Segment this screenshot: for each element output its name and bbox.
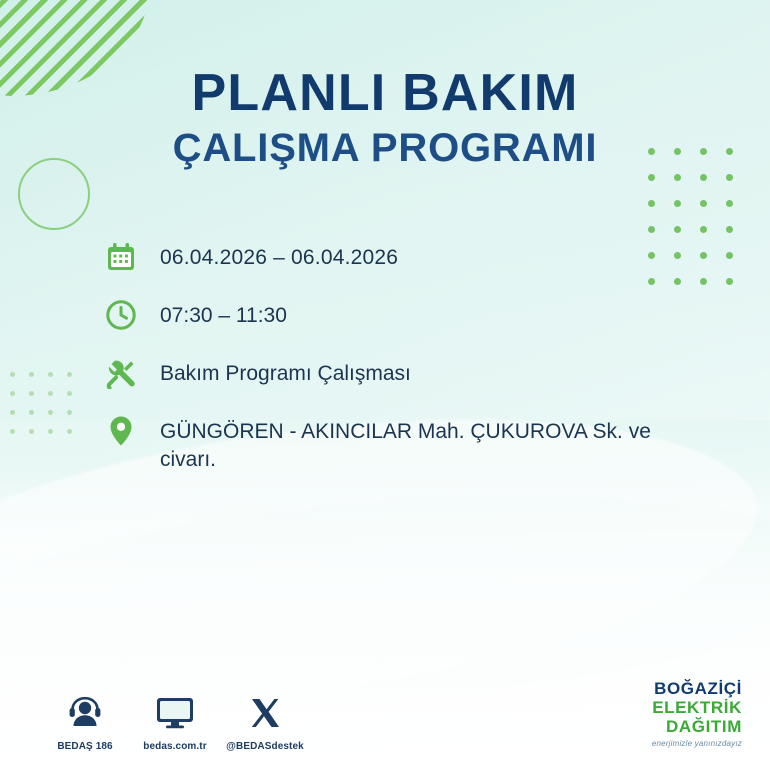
social-item-website[interactable]: bedas.com.tr (130, 691, 220, 752)
social-label-x: @BEDASdestek (220, 741, 310, 752)
info-text-location: GÜNGÖREN - AKINCILAR Mah. ÇUKUROVA Sk. v… (160, 414, 704, 475)
headset-support-icon (40, 691, 130, 735)
info-row-time: 07:30 – 11:30 (104, 298, 704, 332)
social-label-website: bedas.com.tr (130, 741, 220, 752)
info-text-work: Bakım Programı Çalışması (160, 356, 411, 388)
tools-icon (104, 356, 138, 390)
brand-line-3: DAĞITIM (652, 718, 742, 735)
poster-canvas: PLANLI BAKIM ÇALIŞMA PROGRAMI (0, 0, 770, 770)
info-text-date: 06.04.2026 – 06.04.2026 (160, 240, 398, 272)
page-title: PLANLI BAKIM ÇALIŞMA PROGRAMI (0, 66, 770, 170)
info-list: 06.04.2026 – 06.04.2026 07:30 – 11:30 Ba… (104, 240, 704, 499)
info-text-time: 07:30 – 11:30 (160, 298, 287, 330)
footer: BEDAŞ 186 bedas.com.tr (0, 640, 770, 770)
title-sub: ÇALIŞMA PROGRAMI (0, 126, 770, 170)
monitor-icon (130, 691, 220, 735)
location-pin-icon (104, 414, 138, 448)
info-row-work: Bakım Programı Çalışması (104, 356, 704, 390)
title-main: PLANLI BAKIM (0, 66, 770, 120)
info-row-date: 06.04.2026 – 06.04.2026 (104, 240, 704, 274)
dot-grid-left-decoration (10, 372, 86, 448)
social-links: BEDAŞ 186 bedas.com.tr (40, 691, 310, 752)
brand-line-1: BOĞAZİÇİ (652, 680, 742, 697)
social-item-x[interactable]: @BEDASdestek (220, 691, 310, 752)
brand-logo: BOĞAZİÇİ ELEKTRİK DAĞITIM enerjimizle ya… (652, 680, 742, 748)
brand-slogan: enerjimizle yanınızdayız (652, 740, 742, 748)
calendar-icon (104, 240, 138, 274)
social-item-phone[interactable]: BEDAŞ 186 (40, 691, 130, 752)
x-twitter-icon (220, 691, 310, 735)
info-row-location: GÜNGÖREN - AKINCILAR Mah. ÇUKUROVA Sk. v… (104, 414, 704, 475)
brand-line-2: ELEKTRİK (652, 699, 742, 716)
social-label-phone: BEDAŞ 186 (40, 741, 130, 752)
clock-icon (104, 298, 138, 332)
